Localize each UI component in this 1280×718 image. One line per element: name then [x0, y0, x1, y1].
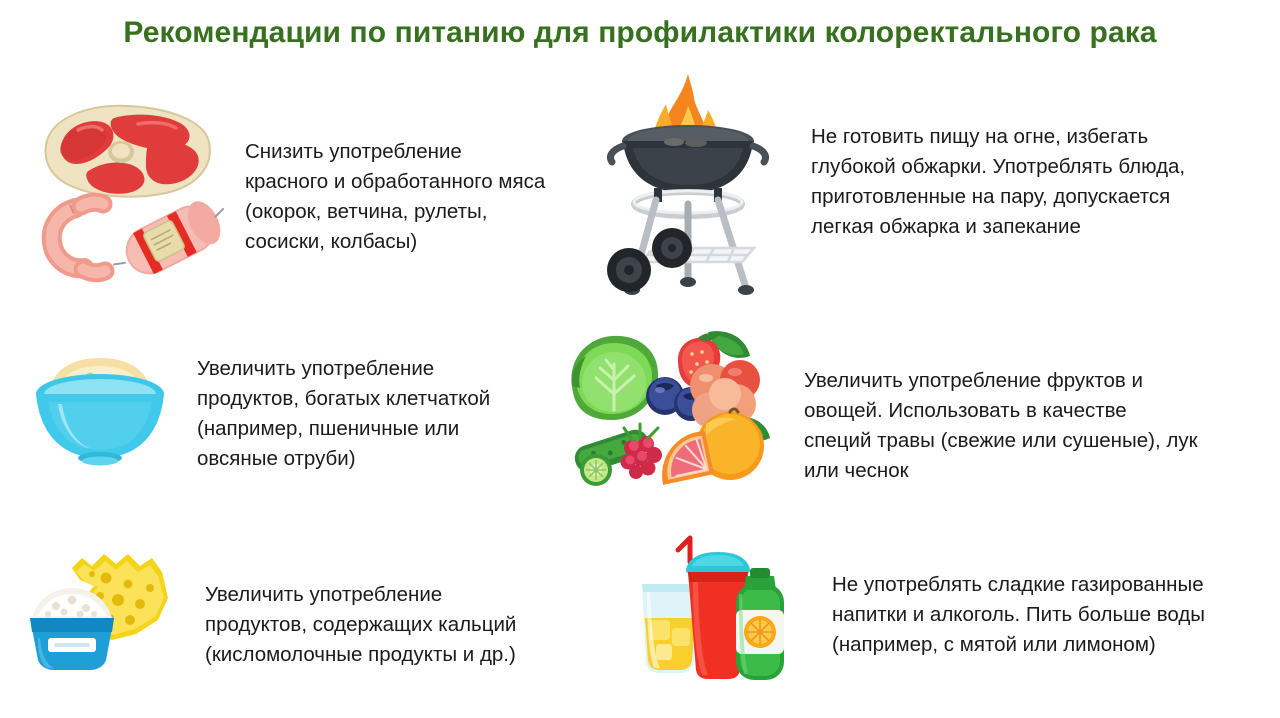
recommendation-text-calcium: Увеличить употребление продуктов, содерж… [205, 580, 595, 670]
recommendation-text-open-fire-cooking: Не готовить пищу на огне, избегать глубо… [811, 122, 1256, 242]
fruits-and-vegetables-icon [560, 324, 780, 489]
recommendation-card-fruits-vegetables: Увеличить употребление фруктов и овощей.… [560, 324, 1260, 489]
sweet-drinks-and-alcohol-icon [640, 532, 800, 687]
recommendation-card-open-fire-cooking: Не готовить пищу на огне, избегать глубо… [596, 62, 1256, 302]
recommendation-card-fiber: Увеличить употребление продуктов, богаты… [28, 332, 618, 474]
recommendation-text-fiber: Увеличить употребление продуктов, богаты… [197, 354, 577, 474]
page-title: Рекомендации по питанию для профилактики… [0, 14, 1280, 52]
cheese-and-cottage-cheese-icon [28, 542, 183, 677]
recommendations-grid: Снизить употребление красного и обработа… [0, 62, 1280, 718]
recommendation-card-red-meat: Снизить употребление красного и обработа… [28, 90, 618, 275]
red-and-processed-meat-icon [28, 90, 228, 275]
recommendation-card-sugary-drinks-alcohol: Не употреблять сладкие газированные напи… [640, 532, 1260, 687]
recommendation-text-red-meat: Снизить употребление красного и обработа… [245, 137, 618, 257]
porridge-bowl-icon [28, 332, 173, 472]
recommendation-text-fruits-vegetables: Увеличить употребление фруктов и овощей.… [804, 366, 1234, 486]
recommendation-card-calcium: Увеличить употребление продуктов, содерж… [28, 542, 618, 677]
bbq-grill-with-flame-icon [596, 62, 781, 302]
recommendation-text-sugary-drinks-alcohol: Не употреблять сладкие газированные напи… [832, 570, 1232, 660]
